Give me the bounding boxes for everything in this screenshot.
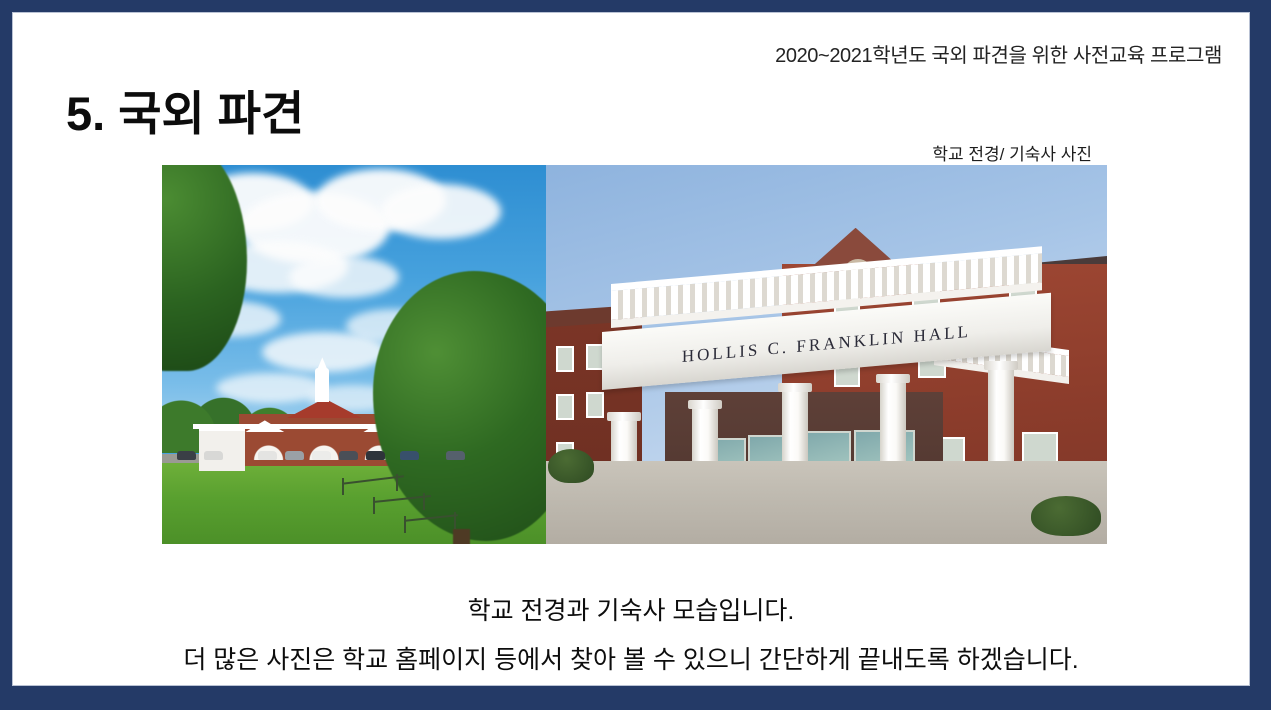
slide-header-text: 2020~2021학년도 국외 파견을 위한 사전교육 프로그램	[775, 39, 1222, 68]
railing-post	[454, 512, 456, 529]
car	[258, 451, 277, 460]
railing-post	[404, 516, 406, 533]
photo-caption: 학교 전경/ 기숙사 사진	[932, 140, 1092, 165]
shrub	[1031, 496, 1101, 536]
car	[366, 451, 385, 460]
railing-post	[396, 474, 398, 491]
photo-campus-view	[162, 165, 546, 544]
page-title: 5. 국외 파견	[66, 75, 304, 144]
railing-post	[373, 497, 375, 514]
car	[339, 451, 358, 460]
building-name-sign: HOLLIS C. FRANKLIN HALL	[682, 321, 971, 366]
car	[177, 451, 196, 460]
parked-cars	[162, 449, 546, 460]
car	[285, 451, 304, 460]
car	[446, 451, 465, 460]
window	[556, 346, 574, 372]
car	[204, 451, 223, 460]
cloud	[289, 256, 399, 298]
railing-post	[423, 493, 425, 510]
slide-canvas: 2020~2021학년도 국외 파견을 위한 사전교육 프로그램 5. 국외 파…	[13, 13, 1249, 685]
photo-strip: HOLLIS C. FRANKLIN HALL	[162, 165, 1107, 544]
railing-post	[342, 478, 344, 495]
car	[312, 451, 331, 460]
slide-root: 2020~2021학년도 국외 파견을 위한 사전교육 프로그램 5. 국외 파…	[0, 0, 1271, 710]
entrance-plaza	[546, 461, 1107, 544]
window	[556, 394, 574, 420]
photo-dormitory: HOLLIS C. FRANKLIN HALL	[546, 165, 1107, 544]
building-cupola	[315, 368, 329, 402]
shrub	[548, 449, 594, 483]
cloud	[381, 184, 501, 239]
body-line-2: 더 많은 사진은 학교 홈페이지 등에서 찾아 볼 수 있으니 간단하게 끝내도…	[13, 640, 1249, 676]
car	[400, 451, 419, 460]
body-line-1: 학교 전경과 기숙사 모습입니다.	[13, 591, 1249, 627]
